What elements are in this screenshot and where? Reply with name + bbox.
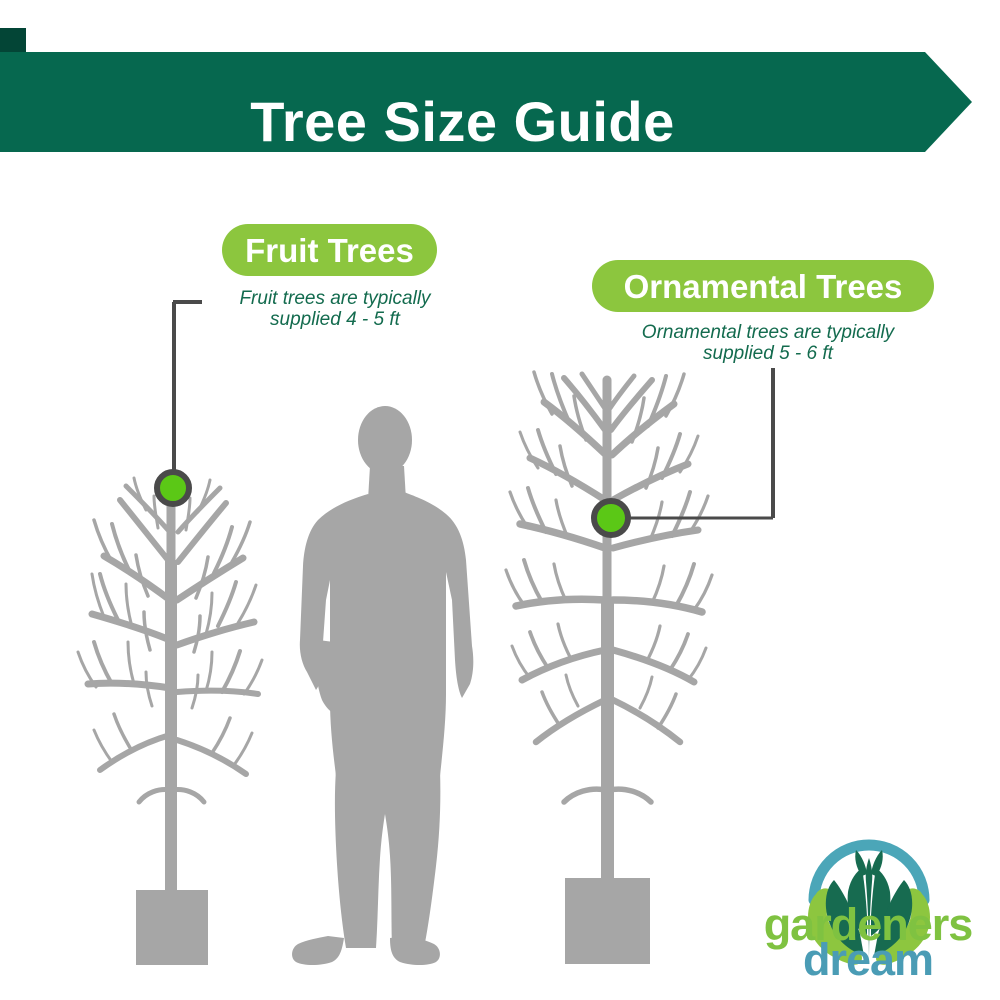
infographic-canvas: Tree Size Guide	[0, 0, 1000, 1000]
gardeners-dream-logo[interactable]: gardeners dream	[752, 806, 984, 986]
fruit-tree-silhouette	[78, 478, 262, 965]
plant-sprout-right	[871, 850, 883, 876]
ornamental-trees-pill[interactable]: Ornamental Trees	[592, 260, 934, 312]
ornamental-trees-caption: Ornamental trees are typically supplied …	[608, 322, 928, 365]
fruit-trees-caption: Fruit trees are typically supplied 4 - 5…	[205, 288, 465, 331]
fruit-trees-pill[interactable]: Fruit Trees	[222, 224, 437, 276]
ornamental-tree-silhouette	[506, 372, 712, 964]
plant-sprout-left	[855, 850, 867, 876]
person-silhouette	[292, 406, 473, 965]
logo-word-dream: dream	[752, 937, 984, 982]
